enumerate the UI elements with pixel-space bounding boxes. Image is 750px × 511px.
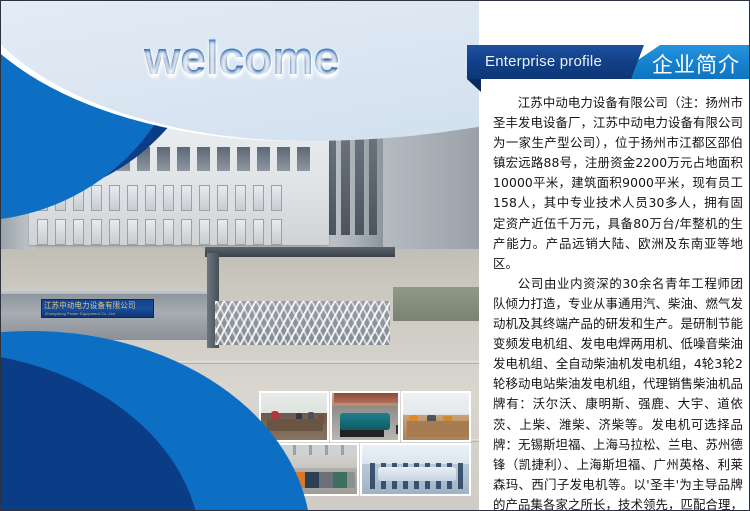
company-signboard: 江苏中动电力设备有限公司 Zhongdong Power Equipment C… (41, 299, 154, 318)
banner-chinese-title: 企业简介 (652, 49, 740, 79)
background-building (379, 121, 479, 249)
left-photo-panel: 中动电力 江苏中动电力设备有限公司 Zhongdong Power Equipm… (1, 1, 479, 510)
enterprise-profile-banner: Enterprise profile 企业简介 (467, 45, 749, 79)
banner-english-title: Enterprise profile (485, 53, 602, 70)
thumb-conference-room (360, 443, 471, 496)
shrubbery (393, 287, 479, 321)
thumb-open-office (401, 391, 471, 442)
profile-paragraph-1: 江苏中动电力设备有限公司（注：扬州市圣丰发电设备厂，江苏中动电力设备有限公司为一… (493, 93, 743, 274)
right-text-panel: Enterprise profile 企业简介 江苏中动电力设备有限公司（注：扬… (479, 1, 749, 510)
factory-gate (215, 301, 390, 345)
profile-paragraph-2: 公司由业内资深的30余名青年工程师团队倾力打造，专业从事通用汽、柴油、燃气发动机… (493, 274, 743, 511)
gate-beam (205, 247, 395, 257)
page-title: welcome (144, 34, 339, 81)
signboard-english-text: Zhongdong Power Equipment Co.,Ltd (45, 311, 148, 316)
window-row-lower (37, 219, 282, 245)
thumb-generator-workshop (330, 391, 400, 442)
signboard-chinese-text: 江苏中动电力设备有限公司 (44, 300, 144, 311)
company-profile-banner: 中动电力 江苏中动电力设备有限公司 Zhongdong Power Equipm… (0, 0, 750, 511)
company-profile-text: 江苏中动电力设备有限公司（注：扬州市圣丰发电设备厂，江苏中动电力设备有限公司为一… (493, 93, 743, 511)
